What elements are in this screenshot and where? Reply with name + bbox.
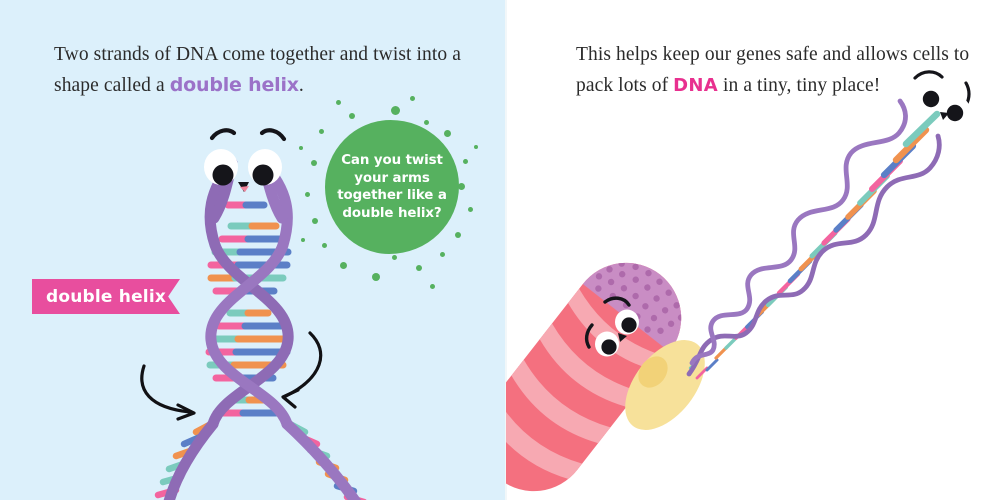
cell-pupil-right-icon xyxy=(621,317,636,332)
strand-pupil-left-icon xyxy=(923,91,939,107)
dna-strand-diagonal xyxy=(689,72,970,378)
right-illustration xyxy=(0,0,1000,500)
strand-eyebrow-left-icon xyxy=(915,72,942,78)
cell-pupil-left-icon xyxy=(601,339,616,354)
book-spread: Two strands of DNA come together and twi… xyxy=(0,0,1000,500)
cell-character xyxy=(457,238,721,500)
strand-pupil-right-icon xyxy=(947,105,963,121)
